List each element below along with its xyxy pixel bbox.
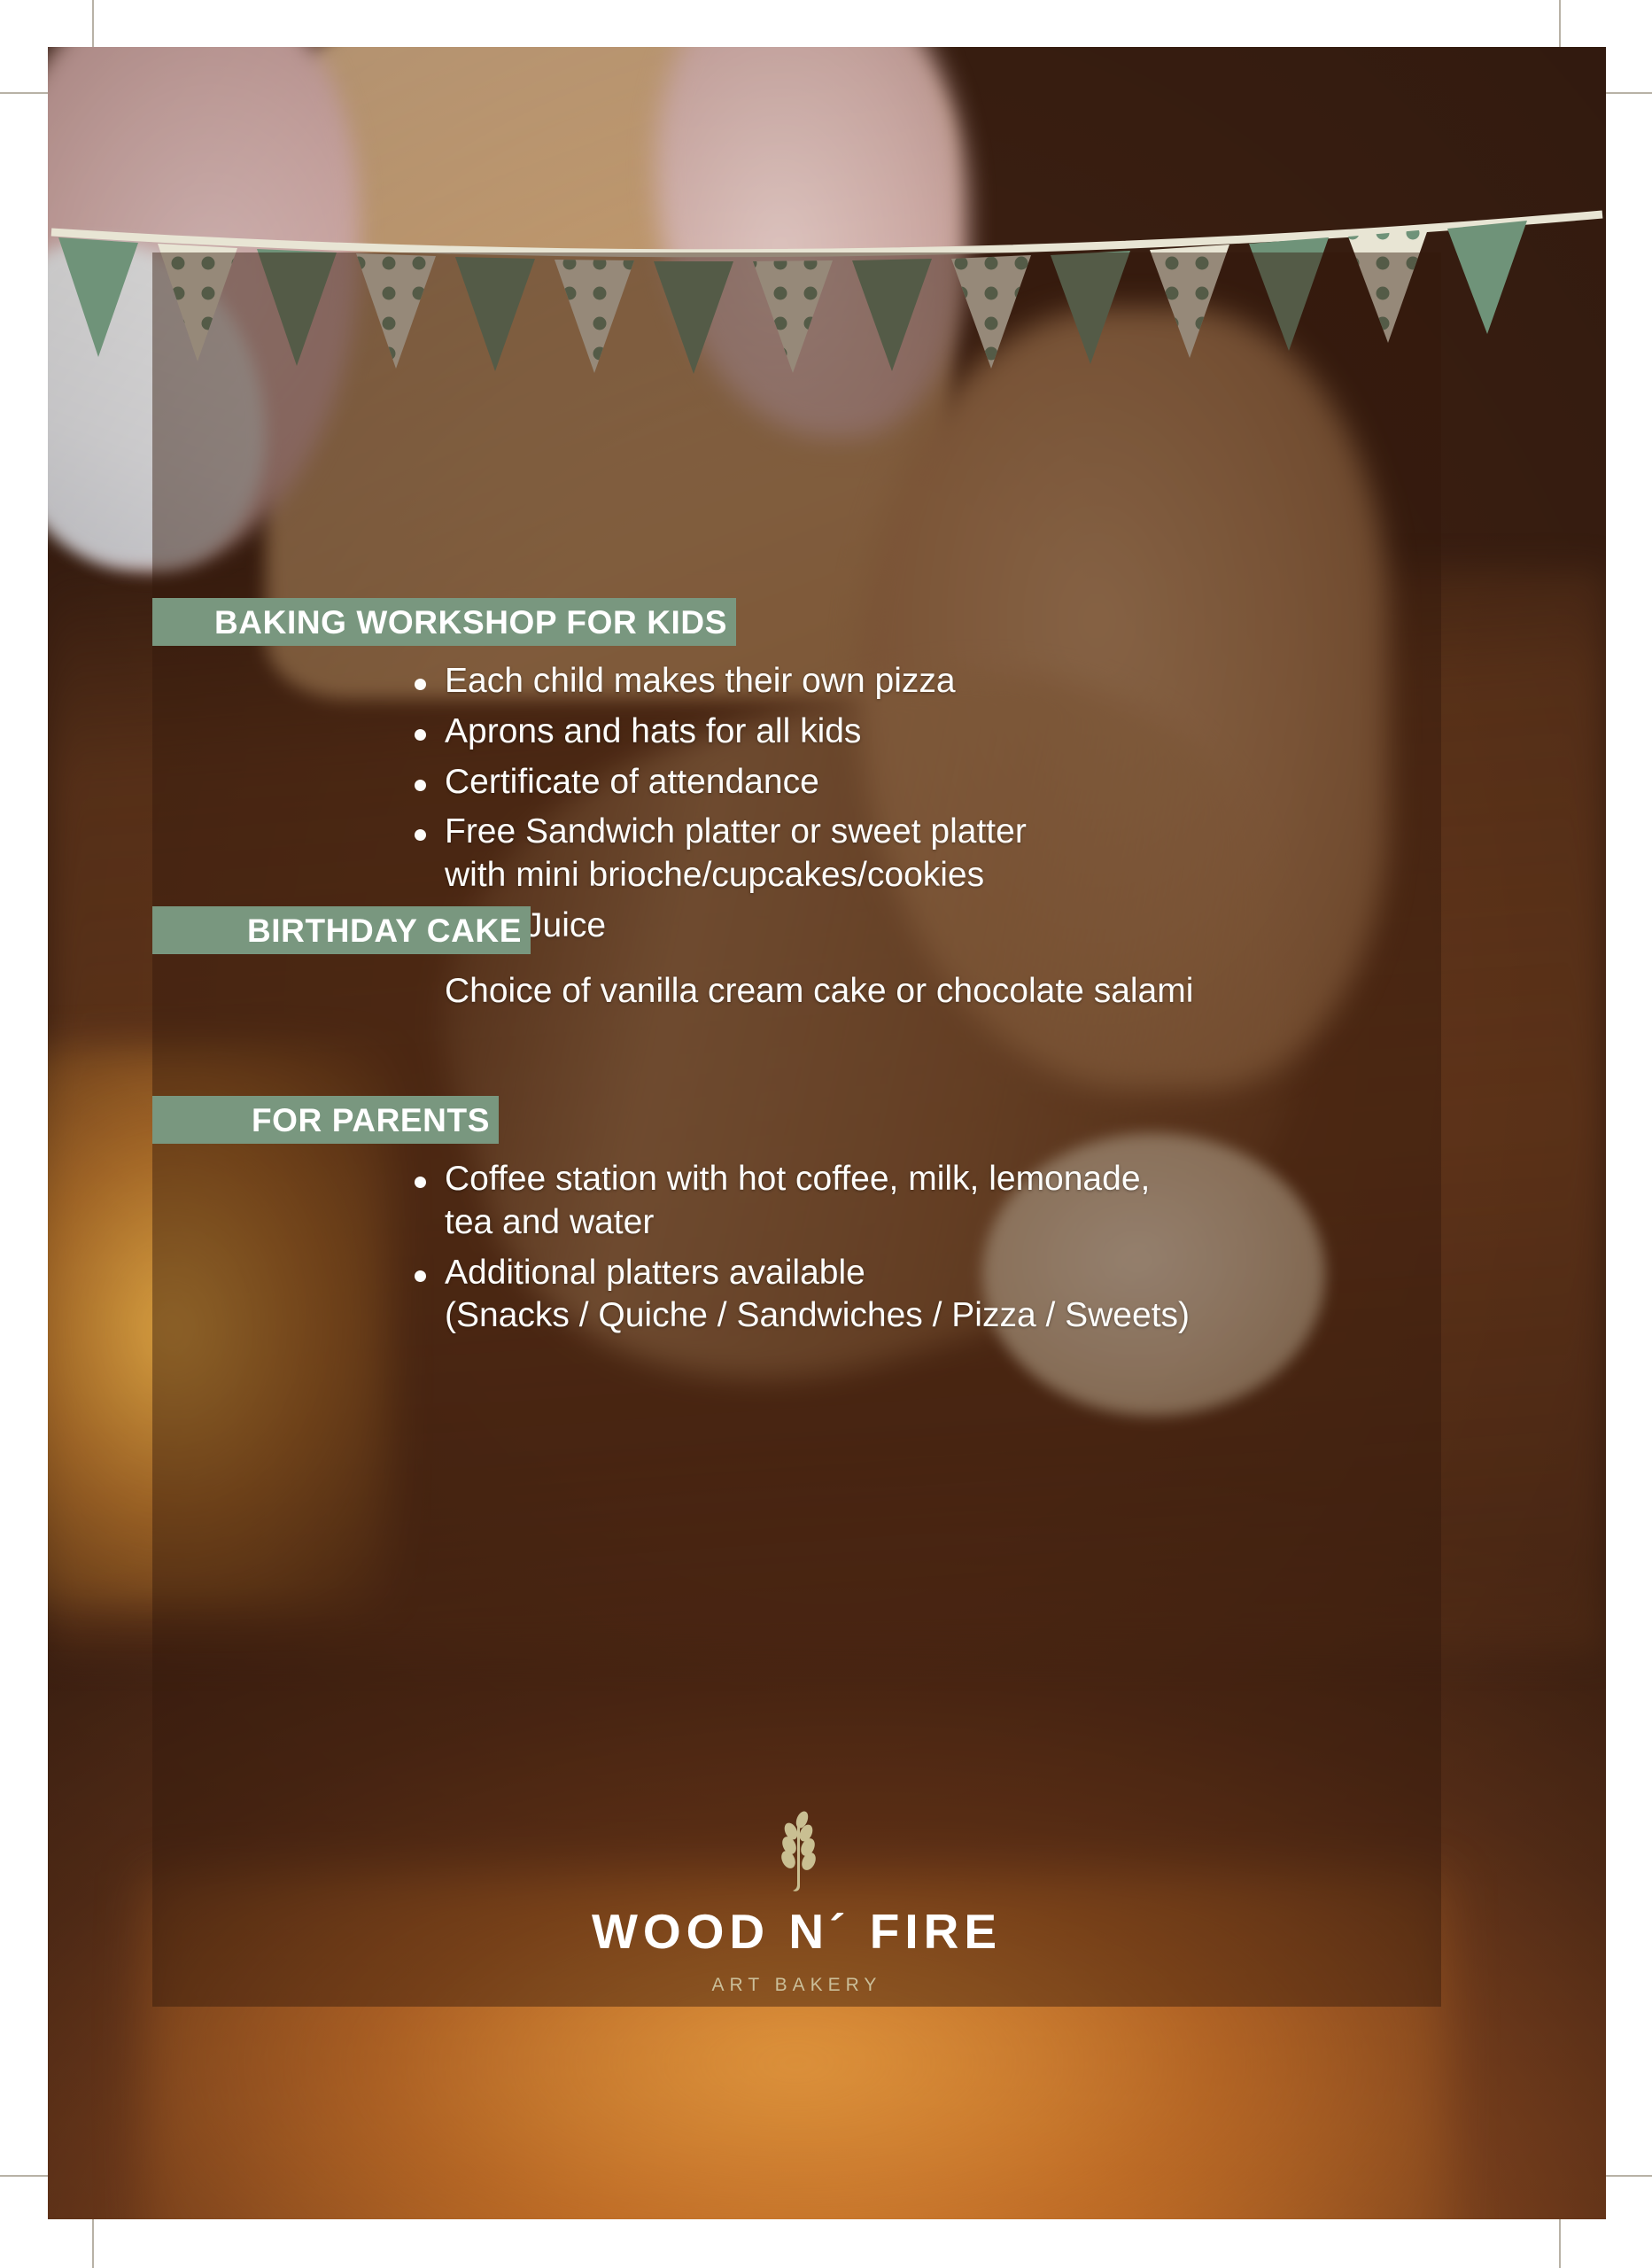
heading-label-kids: BAKING WORKSHOP FOR KIDS: [214, 606, 729, 639]
list-kids: Each child makes their own pizza Aprons …: [152, 660, 1441, 948]
section-heading-band-parents: FOR PARENTS: [152, 1096, 499, 1144]
bullet-dot-icon: [415, 780, 426, 791]
section-heading-band-cake: BIRTHDAY CAKE: [152, 906, 531, 954]
bullet-dot-icon: [415, 829, 426, 841]
list-item-text: Certificate of attendance: [445, 763, 819, 801]
brand-logo: WOOD N´ FIRE ART BAKERY: [152, 1808, 1441, 1994]
section-heading-band-kids: BAKING WORKSHOP FOR KIDS: [152, 598, 736, 646]
list-item-continuation: with mini brioche/cupcakes/cookies: [445, 854, 1441, 897]
list-item-continuation: (Snacks / Quiche / Sandwiches / Pizza / …: [445, 1294, 1441, 1338]
crop-mark-bottom-left-v: [92, 2213, 94, 2268]
heading-label-parents: FOR PARENTS: [252, 1104, 492, 1137]
list-item-text: Free Sandwich platter or sweet platter: [445, 812, 1027, 850]
list-item-continuation: tea and water: [445, 1201, 1441, 1245]
list-item: Each child makes their own pizza: [445, 660, 1441, 703]
list-item-text: Additional platters available: [445, 1254, 865, 1292]
list-item: Certificate of attendance: [445, 761, 1441, 804]
section-birthday-cake: BIRTHDAY CAKE Choice of vanilla cream ca…: [152, 906, 1441, 1014]
cake-description: Choice of vanilla cream cake or chocolat…: [152, 970, 1441, 1014]
section-baking-workshop: BAKING WORKSHOP FOR KIDS Each child make…: [152, 598, 1441, 955]
bullet-dot-icon: [415, 679, 426, 690]
brand-name: WOOD N´ FIRE: [152, 1907, 1441, 1956]
bullet-dot-icon: [415, 1270, 426, 1282]
crop-mark-top-left-h: [0, 92, 55, 94]
list-item: Additional platters available (Snacks / …: [445, 1252, 1441, 1339]
list-parents: Coffee station with hot coffee, milk, le…: [152, 1158, 1441, 1338]
bullet-dot-icon: [415, 1177, 426, 1188]
poster-artboard: BAKING WORKSHOP FOR KIDS Each child make…: [48, 47, 1606, 2219]
list-item-text: Aprons and hats for all kids: [445, 712, 861, 750]
list-item: Free Sandwich platter or sweet platter w…: [445, 811, 1441, 897]
page-canvas: BAKING WORKSHOP FOR KIDS Each child make…: [0, 0, 1652, 2268]
brand-tagline: ART BAKERY: [152, 1976, 1441, 1994]
bullet-dot-icon: [415, 729, 426, 741]
crop-mark-bottom-right-v: [1559, 2213, 1561, 2268]
list-item: Aprons and hats for all kids: [445, 711, 1441, 754]
wheat-stalk-icon: [777, 1808, 818, 1893]
section-for-parents: FOR PARENTS Coffee station with hot coff…: [152, 1096, 1441, 1345]
list-item: Coffee station with hot coffee, milk, le…: [445, 1158, 1441, 1245]
crop-mark-bottom-left-h: [0, 2175, 55, 2177]
heading-label-cake: BIRTHDAY CAKE: [247, 914, 524, 947]
list-item-text: Each child makes their own pizza: [445, 662, 956, 700]
list-item-text: Coffee station with hot coffee, milk, le…: [445, 1160, 1150, 1198]
content-overlay-panel: BAKING WORKSHOP FOR KIDS Each child make…: [152, 252, 1441, 2007]
